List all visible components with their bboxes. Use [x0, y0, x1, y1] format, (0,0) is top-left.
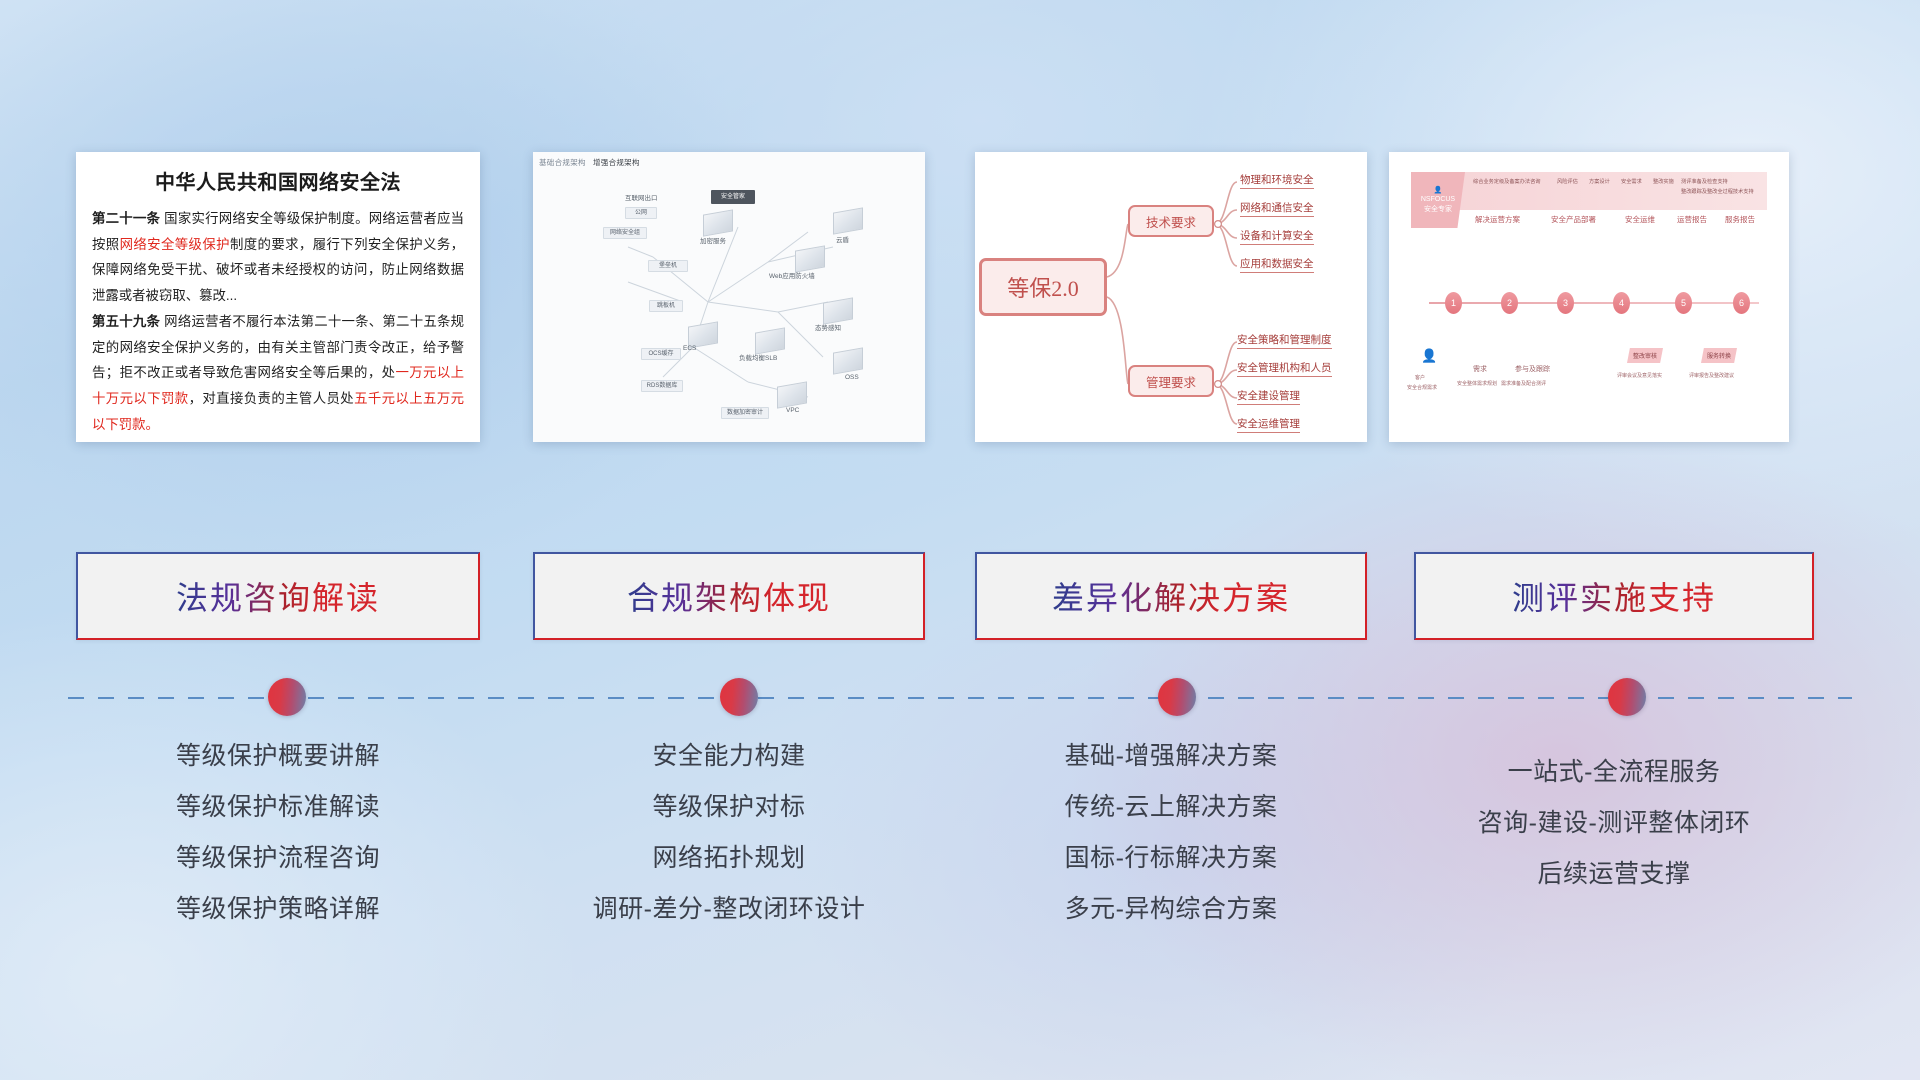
detail-item-4-2: 后续运营支撑 — [1414, 862, 1814, 887]
detail-item-4-0: 一站式-全流程服务 — [1414, 760, 1814, 785]
detail-item-2-2: 网络拓扑规划 — [533, 846, 925, 871]
detail-item-1-1: 等级保护标准解读 — [76, 795, 480, 820]
detail-item-2-0: 安全能力构建 — [533, 744, 925, 769]
detail-item-3-2: 国标-行标解决方案 — [975, 846, 1367, 871]
detail-column-3: 基础-增强解决方案 传统-云上解决方案 国标-行标解决方案 多元-异构综合方案 — [975, 744, 1367, 948]
detail-item-4-1: 咨询-建设-测评整体闭环 — [1414, 811, 1814, 836]
heading-label-1: 合规架构体现 — [627, 573, 831, 619]
heading-box-compliance-architecture[interactable]: 合规架构体现 — [533, 552, 925, 640]
timeline-dot-2[interactable] — [720, 678, 758, 716]
detail-item-2-1: 等级保护对标 — [533, 795, 925, 820]
detail-column-4: 一站式-全流程服务 咨询-建设-测评整体闭环 后续运营支撑 — [1414, 760, 1814, 913]
detail-item-3-1: 传统-云上解决方案 — [975, 795, 1367, 820]
detail-item-3-0: 基础-增强解决方案 — [975, 744, 1367, 769]
heading-box-regulation-consulting[interactable]: 法规咨询解读 — [76, 552, 480, 640]
heading-label-3: 测评实施支持 — [1512, 573, 1716, 619]
timeline-dot-4[interactable] — [1608, 678, 1646, 716]
timeline-dot-1[interactable] — [268, 678, 306, 716]
timeline-dot-3[interactable] — [1158, 678, 1196, 716]
detail-item-2-3: 调研-差分-整改闭环设计 — [533, 897, 925, 922]
detail-item-1-3: 等级保护策略详解 — [76, 897, 480, 922]
detail-column-1: 等级保护概要讲解 等级保护标准解读 等级保护流程咨询 等级保护策略详解 — [76, 744, 480, 948]
heading-label-2: 差异化解决方案 — [1052, 573, 1290, 619]
detail-column-2: 安全能力构建 等级保护对标 网络拓扑规划 调研-差分-整改闭环设计 — [533, 744, 925, 948]
detail-item-1-0: 等级保护概要讲解 — [76, 744, 480, 769]
detail-item-3-3: 多元-异构综合方案 — [975, 897, 1367, 922]
heading-box-evaluation-support[interactable]: 测评实施支持 — [1414, 552, 1814, 640]
timeline — [68, 696, 1852, 700]
timeline-dashed-line — [68, 697, 1852, 699]
heading-label-0: 法规咨询解读 — [176, 573, 380, 619]
detail-item-1-2: 等级保护流程咨询 — [76, 846, 480, 871]
heading-box-differentiated-solution[interactable]: 差异化解决方案 — [975, 552, 1367, 640]
